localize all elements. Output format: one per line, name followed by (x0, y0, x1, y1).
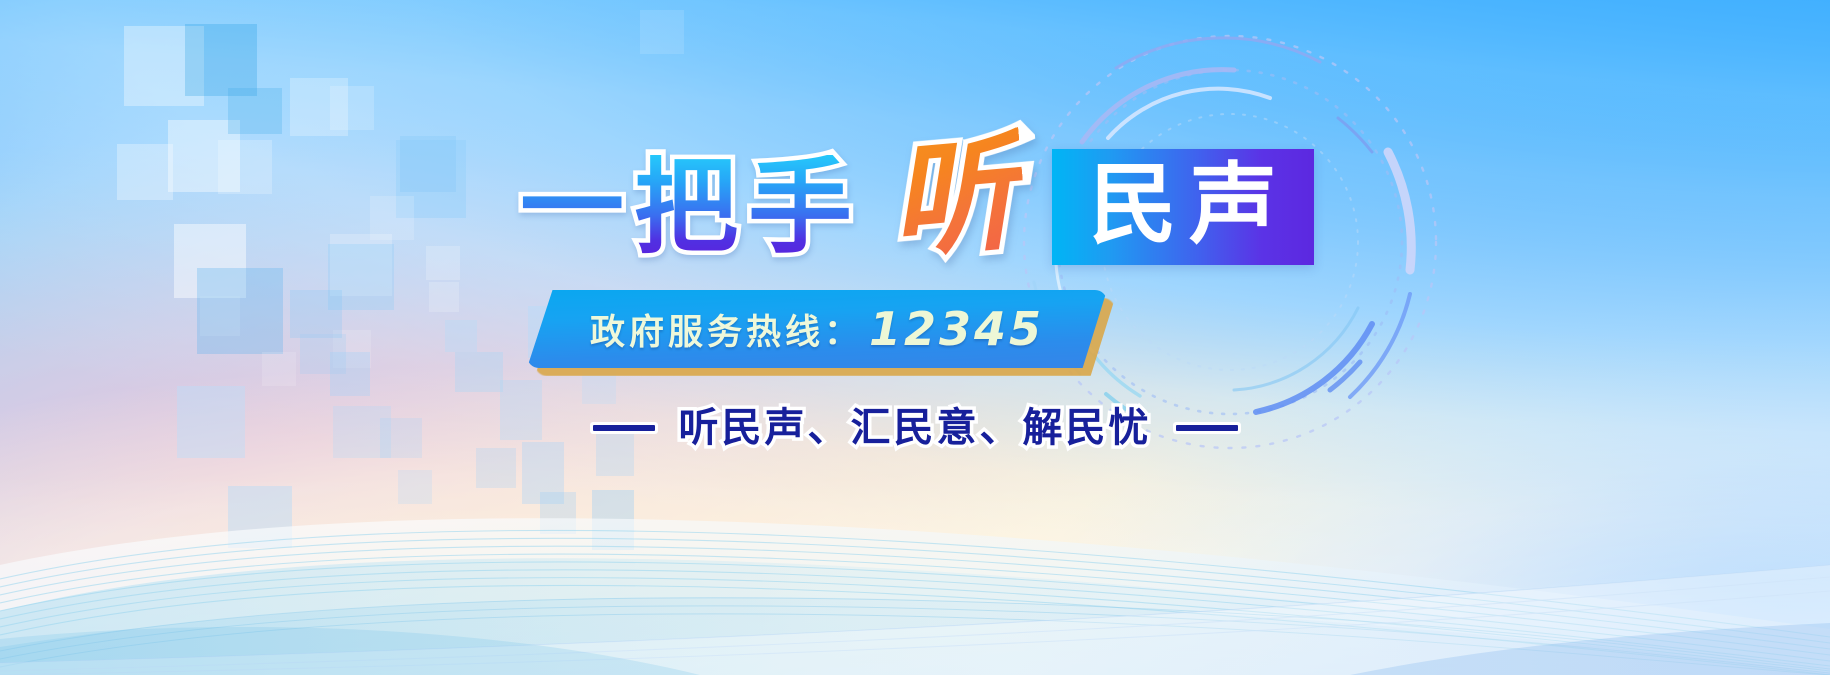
mosaic-square (370, 196, 414, 240)
mosaic-square (330, 86, 374, 130)
mosaic-square (300, 334, 346, 374)
mosaic-square (117, 144, 173, 200)
bottom-wave-graphic (0, 415, 1830, 675)
hotline-ribbon-body: 政府服务热线： 12345 (527, 290, 1107, 368)
mosaic-square (290, 290, 342, 338)
decorative-ring-graphic (1020, 32, 1440, 452)
mosaic-square (400, 136, 456, 192)
mosaic-square (640, 10, 684, 54)
mosaic-square (426, 246, 460, 280)
mosaic-square (445, 320, 477, 352)
mosaic-square (262, 352, 296, 386)
tagline-left-dash (593, 425, 655, 431)
banner-root: 一把手 一把手 听 听 民声 政府服务热线： 12345 听民声、汇民意、解民忧… (0, 0, 1830, 675)
tagline-right-dash (1176, 425, 1238, 431)
mosaic-square (455, 352, 503, 392)
mosaic-square (218, 140, 272, 194)
tagline-row: 听民声、汇民意、解民忧 听民声、汇民意、解民忧 (0, 403, 1830, 453)
mosaic-square (228, 88, 282, 134)
mosaic-square (185, 24, 257, 96)
hotline-number: 12345 (869, 302, 1044, 356)
mosaic-square (197, 268, 283, 354)
tagline-text-wrapper: 听民声、汇民意、解民忧 听民声、汇民意、解民忧 (675, 403, 1156, 453)
hotline-ribbon: 政府服务热线： 12345 (527, 290, 1107, 368)
hotline-label: 政府服务热线： (590, 304, 863, 355)
tagline-text: 听民声、汇民意、解民忧 (675, 405, 1156, 451)
mosaic-square (429, 282, 459, 312)
